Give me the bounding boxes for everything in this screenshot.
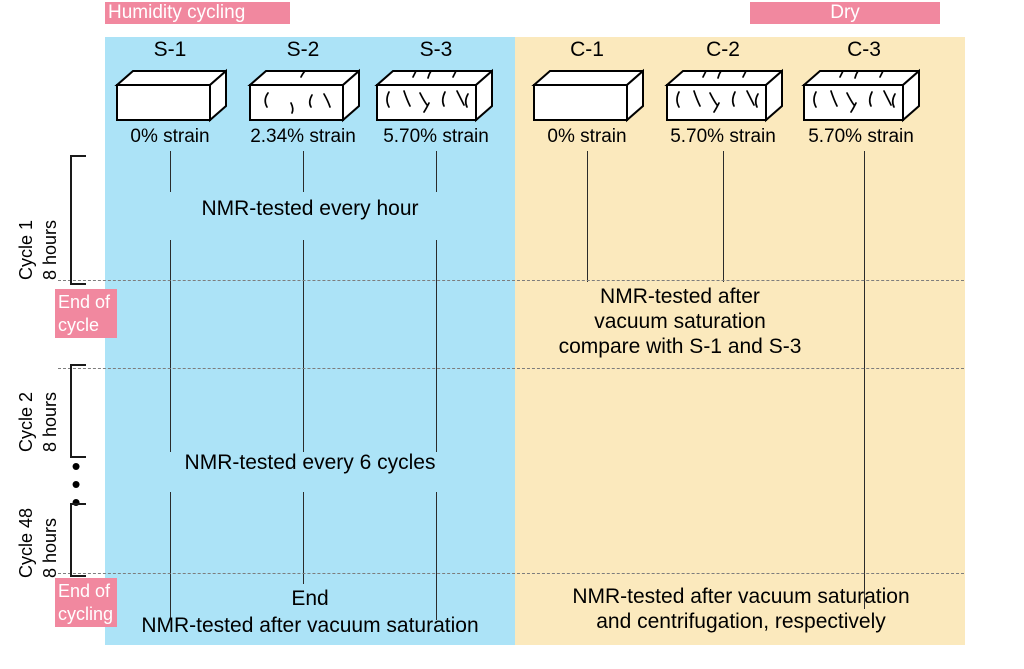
cycle-hours-1: 8 hours bbox=[40, 220, 60, 280]
strain-label-s-2: 2.34% strain bbox=[238, 126, 368, 148]
specimen-title-s-1: S-1 bbox=[120, 38, 220, 62]
specimen-title-c-1: C-1 bbox=[537, 38, 637, 62]
strain-label-c-2: 5.70% strain bbox=[658, 126, 788, 148]
cycle-label-1-name: Cycle 1 bbox=[16, 220, 36, 280]
connector-c-1 bbox=[587, 151, 588, 282]
specimen-title-c-2: C-2 bbox=[673, 38, 773, 62]
figure-canvas: Humidity cycling Dry End ofcycle 1 End o… bbox=[0, 0, 1024, 669]
note-humidity-final: NMR-tested after vacuum saturation bbox=[105, 613, 515, 638]
note-dry-final: NMR-tested after vacuum saturation and c… bbox=[518, 584, 964, 634]
specimen-title-s-3: S-3 bbox=[386, 38, 486, 62]
specimen-title-s-2: S-2 bbox=[253, 38, 353, 62]
specimen-block-c-1 bbox=[530, 67, 644, 123]
note-end: End bbox=[105, 586, 515, 611]
note-dry-mid: NMR-tested after vacuum saturation compa… bbox=[515, 284, 845, 359]
specimen-block-s-1 bbox=[113, 67, 227, 123]
connector-s-3-seg2 bbox=[436, 240, 437, 452]
specimen-title-c-3: C-3 bbox=[814, 38, 914, 62]
cycle-label-1: Cycle 1 bbox=[16, 220, 36, 280]
strain-label-s-1: 0% strain bbox=[110, 126, 230, 148]
strain-label-s-3: 5.70% strain bbox=[371, 126, 501, 148]
connector-s-1-seg1 bbox=[170, 151, 171, 192]
cycle-hours-48-value: 8 hours bbox=[40, 518, 60, 578]
banner-dry: Dry bbox=[750, 2, 940, 24]
specimen-block-s-3 bbox=[373, 67, 493, 123]
note-dry-mid-line-2: vacuum saturation bbox=[515, 309, 845, 334]
cycle-label-2-name: Cycle 2 bbox=[16, 392, 36, 452]
note-dry-final-line-1: NMR-tested after vacuum saturation bbox=[518, 584, 964, 609]
divider-end-of-cycling bbox=[58, 573, 964, 574]
note-dry-mid-line-3: compare with S-1 and S-3 bbox=[515, 334, 845, 359]
connector-c-2 bbox=[723, 151, 724, 282]
note-dry-final-line-2: and centrifugation, respectively bbox=[518, 609, 964, 634]
bracket-cycle-2 bbox=[70, 364, 86, 458]
cycle-label-48: Cycle 48 bbox=[16, 508, 36, 578]
divider-end-of-cycle-1-bottom bbox=[58, 368, 964, 369]
connector-s-2-seg3 bbox=[303, 492, 304, 584]
bracket-cycle-48 bbox=[70, 503, 86, 577]
cycle-label-2: Cycle 2 bbox=[16, 392, 36, 452]
note-nmr-every-6-cycles: NMR-tested every 6 cycles bbox=[105, 450, 515, 475]
specimen-block-c-2 bbox=[663, 67, 783, 123]
note-nmr-every-hour: NMR-tested every hour bbox=[105, 196, 515, 221]
connector-s-3-seg1 bbox=[436, 151, 437, 192]
specimen-block-c-3 bbox=[800, 67, 920, 123]
cycle-hours-2: 8 hours bbox=[40, 392, 60, 452]
cycle-hours-1-value: 8 hours bbox=[40, 220, 60, 280]
divider-end-of-cycle-1-top bbox=[58, 280, 964, 281]
cycle-label-48-name: Cycle 48 bbox=[16, 508, 36, 578]
specimen-block-s-2 bbox=[246, 67, 360, 123]
cycle-hours-2-value: 8 hours bbox=[40, 392, 60, 452]
connector-c-3 bbox=[864, 151, 865, 609]
banner-humidity-cycling: Humidity cycling bbox=[105, 2, 290, 24]
strain-label-c-1: 0% strain bbox=[527, 126, 647, 148]
note-dry-mid-line-1: NMR-tested after bbox=[515, 284, 845, 309]
cycle-hours-48: 8 hours bbox=[40, 518, 60, 578]
connector-s-2-seg1 bbox=[303, 151, 304, 192]
bracket-cycle-1 bbox=[70, 155, 86, 285]
end-of-cycle-1-text: End ofcycle 1 bbox=[58, 292, 110, 358]
connector-s-1-seg2 bbox=[170, 240, 171, 452]
strain-label-c-3: 5.70% strain bbox=[796, 126, 926, 148]
banner-end-of-cycle-1: End ofcycle 1 bbox=[55, 289, 117, 338]
connector-s-2-seg2 bbox=[303, 240, 304, 452]
